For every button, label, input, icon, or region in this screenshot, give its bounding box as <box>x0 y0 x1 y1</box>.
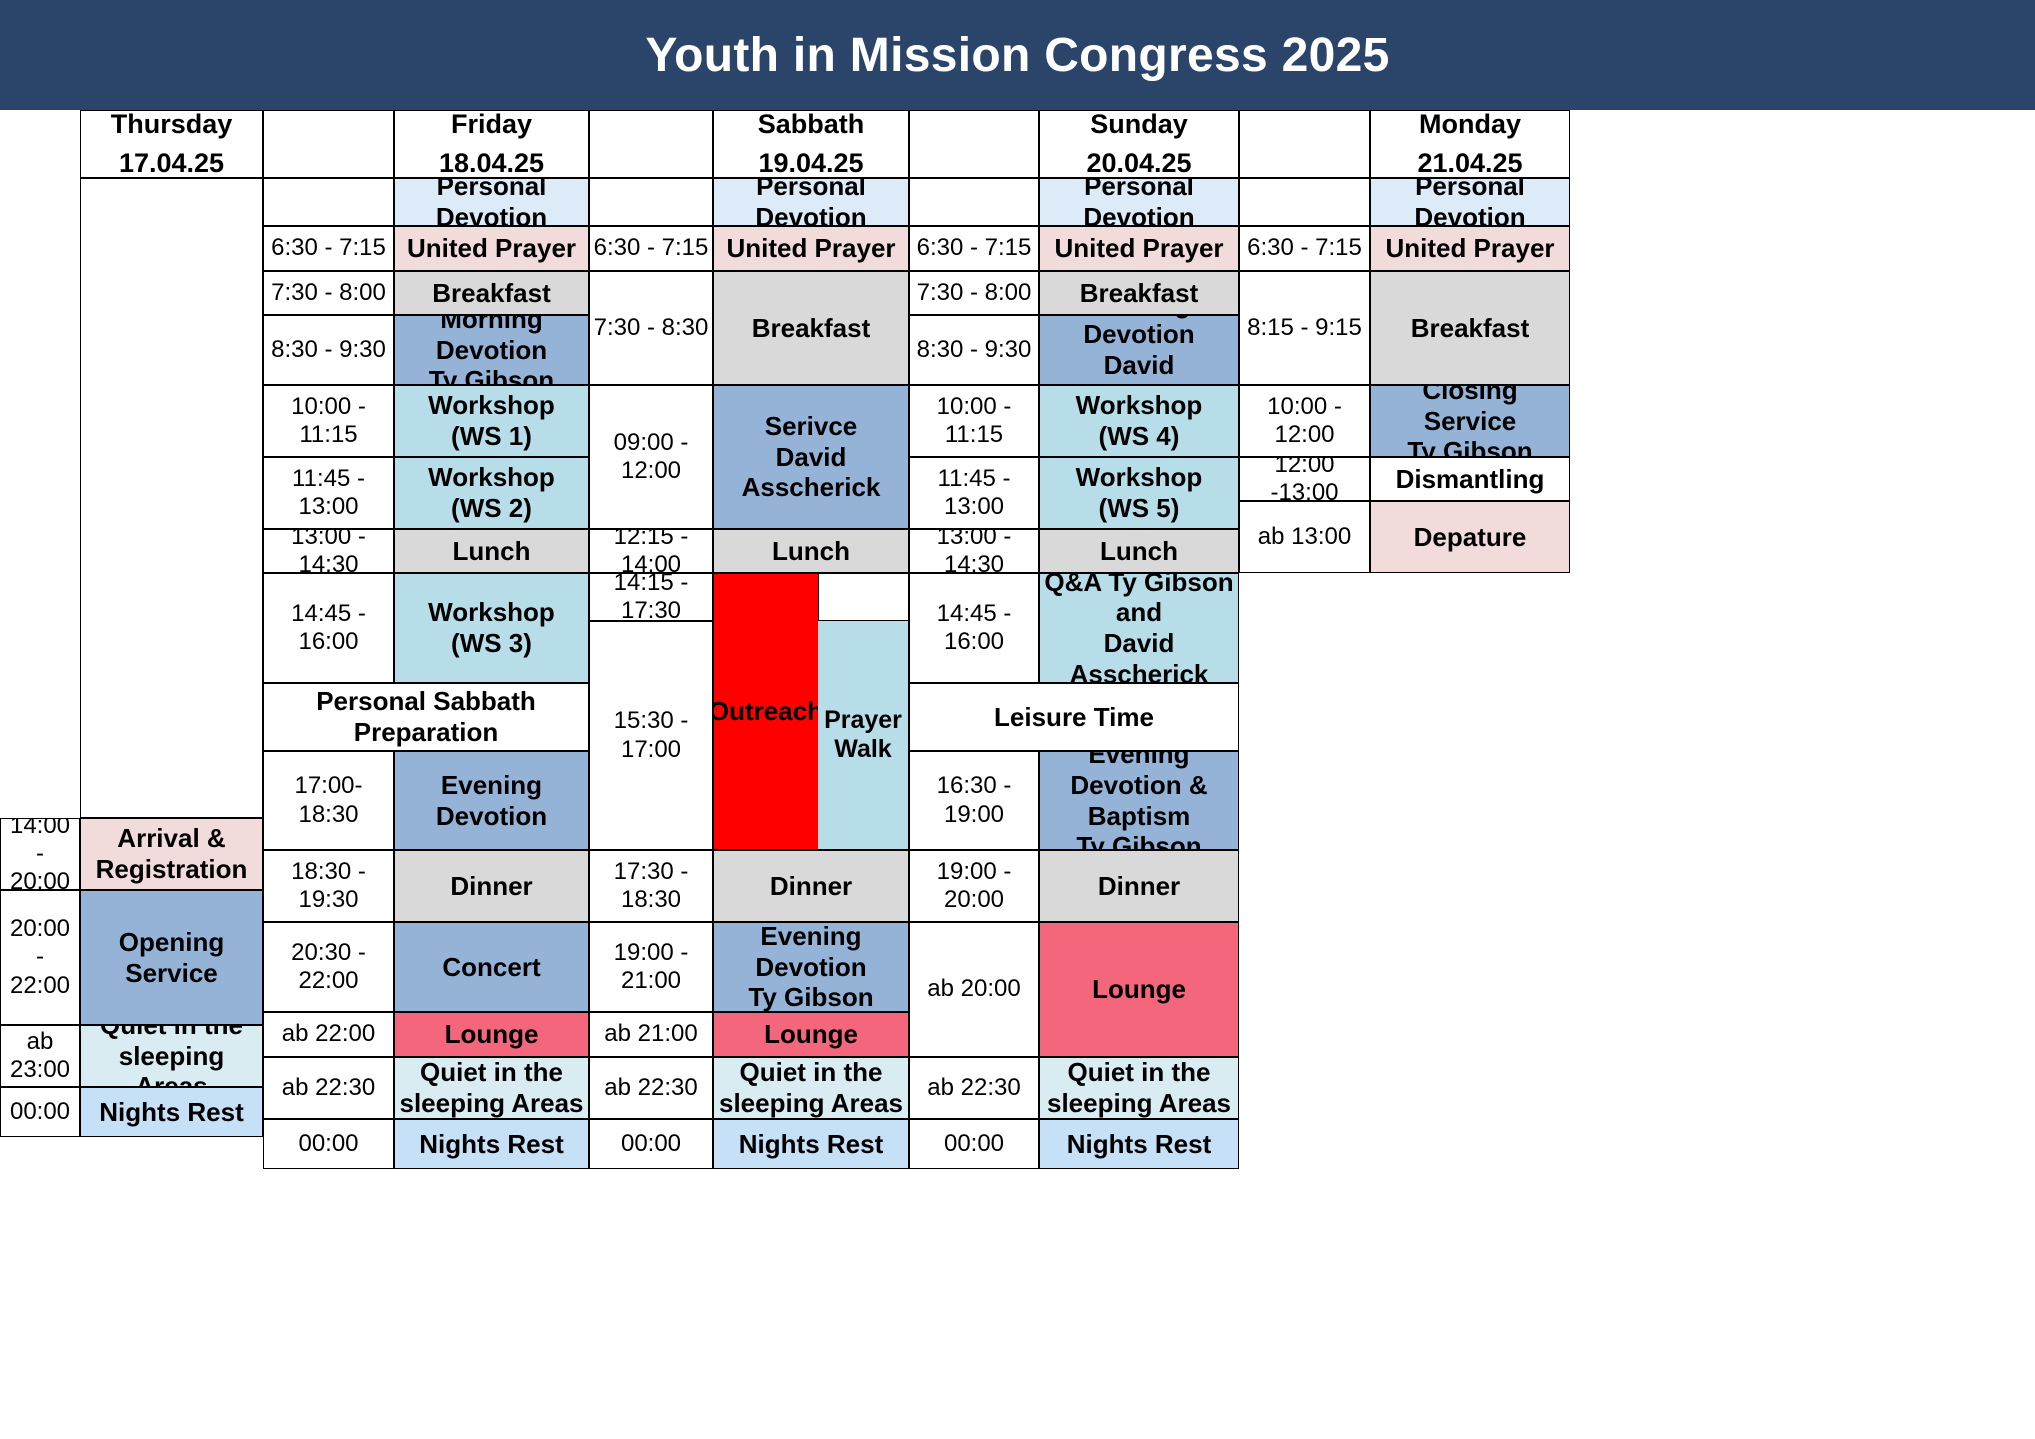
sabbath-event-2: Breakfast <box>713 271 909 385</box>
page-banner: Youth in Mission Congress 2025 <box>0 0 2035 110</box>
friday-event-3: Morning Devotion Ty Gibson <box>394 315 589 385</box>
sabbath-event-1: United Prayer <box>713 226 909 271</box>
friday-time-3: 8:30 - 9:30 <box>263 315 394 385</box>
sunday-event-11: Lounge <box>1039 922 1239 1057</box>
day-date: 21.04.25 <box>1417 144 1522 178</box>
sunday-event-6: Lunch <box>1039 529 1239 573</box>
sunday-time-11: ab 20:00 <box>909 922 1039 1057</box>
friday-time-0 <box>263 178 394 226</box>
sunday-time-5: 11:45 - 13:00 <box>909 457 1039 529</box>
friday-event-2: Breakfast <box>394 271 589 315</box>
sabbath-time-5: 14:15 - 17:30 <box>589 573 713 621</box>
sunday-event-12: Quiet in the sleeping Areas <box>1039 1057 1239 1119</box>
day-header-spacer-2 <box>589 110 713 178</box>
friday-time-12: ab 22:00 <box>263 1012 394 1057</box>
thursday-event-2: Quiet in the sleeping Areas <box>80 1025 263 1087</box>
sunday-time-10: 19:00 - 20:00 <box>909 850 1039 922</box>
friday-event-12: Lounge <box>394 1012 589 1057</box>
schedule-grid: Thursday 17.04.25 Friday 18.04.25 Sabbat… <box>0 110 2035 1439</box>
sunday-time-7: 14:45 - 16:00 <box>909 573 1039 683</box>
day-name: Sunday <box>1090 110 1188 144</box>
monday-time-1: 6:30 - 7:15 <box>1239 226 1370 271</box>
day-name: Friday <box>451 110 532 144</box>
friday-time-14: 00:00 <box>263 1119 394 1169</box>
sunday-event-10: Dinner <box>1039 850 1239 922</box>
friday-event-7: Workshop (WS 3) <box>394 573 589 683</box>
sabbath-event-outreach: Outreach <box>713 573 818 850</box>
sabbath-time-6: 15:30 - 17:00 <box>589 621 713 850</box>
friday-event-1: United Prayer <box>394 226 589 271</box>
thursday-empty-top <box>80 178 263 818</box>
day-header-spacer-3 <box>909 110 1039 178</box>
monday-time-4: 12:00 -13:00 <box>1239 457 1370 501</box>
day-date: 19.04.25 <box>758 144 863 178</box>
thursday-event-3: Nights Rest <box>80 1087 263 1137</box>
page-title: Youth in Mission Congress 2025 <box>645 28 1389 83</box>
sunday-event-13: Nights Rest <box>1039 1119 1239 1169</box>
sabbath-event-10: Quiet in the sleeping Areas <box>713 1057 909 1119</box>
day-header-thursday: Thursday 17.04.25 <box>80 110 263 178</box>
sunday-event-1: United Prayer <box>1039 226 1239 271</box>
sunday-time-0 <box>909 178 1039 226</box>
thursday-time-1: 20:00 - 22:00 <box>0 890 80 1025</box>
sunday-time-9: 16:30 - 19:00 <box>909 751 1039 850</box>
sunday-time-12: ab 22:30 <box>909 1057 1039 1119</box>
friday-time-2: 7:30 - 8:00 <box>263 271 394 315</box>
friday-time-10: 18:30 - 19:30 <box>263 850 394 922</box>
friday-event-0: Personal Devotion <box>394 178 589 226</box>
monday-time-2: 8:15 - 9:15 <box>1239 271 1370 385</box>
sabbath-event-7: Dinner <box>713 850 909 922</box>
friday-time-11: 20:30 - 22:00 <box>263 922 394 1012</box>
sunday-event-3: Morning Devotion David Asscherick <box>1039 315 1239 385</box>
sabbath-event-3: Serivce David Asscherick <box>713 385 909 529</box>
sabbath-event-8: Evening Devotion Ty Gibson <box>713 922 909 1012</box>
day-date: 20.04.25 <box>1086 144 1191 178</box>
friday-event-4: Workshop (WS 1) <box>394 385 589 457</box>
friday-event-14: Nights Rest <box>394 1119 589 1169</box>
day-date: 18.04.25 <box>439 144 544 178</box>
sunday-event-7: Q&A Ty Gibson and David Asscherick <box>1039 573 1239 683</box>
sabbath-time-7: 17:30 - 18:30 <box>589 850 713 922</box>
day-header-monday: Monday 21.04.25 <box>1370 110 1570 178</box>
monday-event-5: Depature <box>1370 501 1570 573</box>
sunday-time-3: 8:30 - 9:30 <box>909 315 1039 385</box>
thursday-event-1: Opening Service <box>80 890 263 1025</box>
sabbath-event-9: Lounge <box>713 1012 909 1057</box>
day-name: Monday <box>1419 110 1521 144</box>
friday-event-8: Personal Sabbath Preparation <box>263 683 589 751</box>
monday-time-3: 10:00 - 12:00 <box>1239 385 1370 457</box>
friday-event-10: Dinner <box>394 850 589 922</box>
sunday-event-0: Personal Devotion <box>1039 178 1239 226</box>
monday-event-2: Breakfast <box>1370 271 1570 385</box>
sunday-time-6: 13:00 - 14:30 <box>909 529 1039 573</box>
sabbath-time-8: 19:00 - 21:00 <box>589 922 713 1012</box>
friday-event-9: Evening Devotion <box>394 751 589 850</box>
sabbath-time-1: 6:30 - 7:15 <box>589 226 713 271</box>
sabbath-time-10: ab 22:30 <box>589 1057 713 1119</box>
day-header-spacer-1 <box>263 110 394 178</box>
day-header-sunday: Sunday 20.04.25 <box>1039 110 1239 178</box>
sabbath-prayerwalk-gap <box>818 573 909 621</box>
sabbath-time-11: 00:00 <box>589 1119 713 1169</box>
sabbath-time-3: 09:00 - 12:00 <box>589 385 713 529</box>
friday-time-5: 11:45 - 13:00 <box>263 457 394 529</box>
sunday-event-4: Workshop (WS 4) <box>1039 385 1239 457</box>
day-header-spacer-4 <box>1239 110 1370 178</box>
monday-time-0 <box>1239 178 1370 226</box>
thursday-time-2: ab 23:00 <box>0 1025 80 1087</box>
day-date: 17.04.25 <box>119 144 224 178</box>
friday-time-9: 17:00-18:30 <box>263 751 394 850</box>
friday-time-7: 14:45 - 16:00 <box>263 573 394 683</box>
monday-event-4: Dismantling <box>1370 457 1570 501</box>
friday-event-5: Workshop (WS 2) <box>394 457 589 529</box>
monday-event-0: Personal Devotion <box>1370 178 1570 226</box>
sunday-event-8: Leisure Time <box>909 683 1239 751</box>
sunday-event-5: Workshop (WS 5) <box>1039 457 1239 529</box>
day-header-friday: Friday 18.04.25 <box>394 110 589 178</box>
sabbath-event-11: Nights Rest <box>713 1119 909 1169</box>
sunday-time-13: 00:00 <box>909 1119 1039 1169</box>
sabbath-time-9: ab 21:00 <box>589 1012 713 1057</box>
friday-event-6: Lunch <box>394 529 589 573</box>
sabbath-event-4: Lunch <box>713 529 909 573</box>
sunday-time-2: 7:30 - 8:00 <box>909 271 1039 315</box>
monday-event-1: United Prayer <box>1370 226 1570 271</box>
day-header-sabbath: Sabbath 19.04.25 <box>713 110 909 178</box>
sunday-time-4: 10:00 - 11:15 <box>909 385 1039 457</box>
sunday-time-1: 6:30 - 7:15 <box>909 226 1039 271</box>
day-name: Sabbath <box>758 110 865 144</box>
monday-time-5: ab 13:00 <box>1239 501 1370 573</box>
friday-time-1: 6:30 - 7:15 <box>263 226 394 271</box>
friday-event-11: Concert <box>394 922 589 1012</box>
sunday-event-9: Evening Devotion & Baptism Ty Gibson <box>1039 751 1239 850</box>
day-name: Thursday <box>111 110 233 144</box>
thursday-time-0: 14:00 - 20:00 <box>0 818 80 890</box>
friday-time-4: 10:00 - 11:15 <box>263 385 394 457</box>
sabbath-event-0: Personal Devotion <box>713 178 909 226</box>
sunday-event-2: Breakfast <box>1039 271 1239 315</box>
sabbath-event-prayer-walk: Prayer Walk <box>818 621 909 850</box>
friday-time-13: ab 22:30 <box>263 1057 394 1119</box>
thursday-event-0: Arrival & Registration <box>80 818 263 890</box>
thursday-time-3: 00:00 <box>0 1087 80 1137</box>
friday-time-6: 13:00 - 14:30 <box>263 529 394 573</box>
sabbath-time-2: 7:30 - 8:30 <box>589 271 713 385</box>
friday-event-13: Quiet in the sleeping Areas <box>394 1057 589 1119</box>
sabbath-time-4: 12:15 - 14:00 <box>589 529 713 573</box>
sabbath-time-0 <box>589 178 713 226</box>
monday-event-3: Closing Service Ty Gibson <box>1370 385 1570 457</box>
